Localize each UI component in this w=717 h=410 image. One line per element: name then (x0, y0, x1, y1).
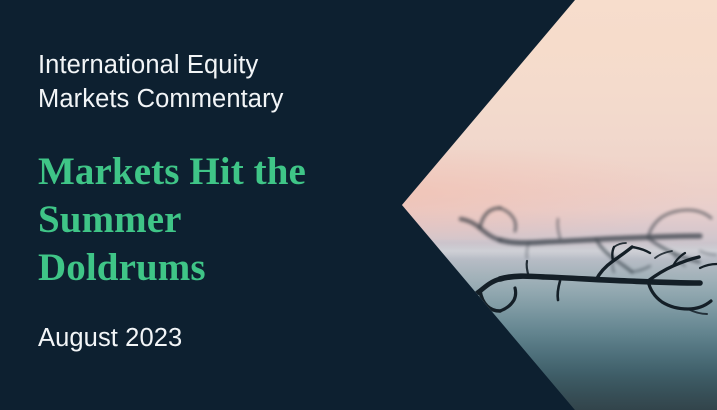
cover-text-block: International Equity Markets Commentary … (38, 0, 388, 410)
commentary-cover-card: International Equity Markets Commentary … (0, 0, 717, 410)
commentary-eyebrow: International Equity Markets Commentary (38, 48, 378, 116)
page-title: Markets Hit the Summer Doldrums (38, 148, 378, 292)
publication-date: August 2023 (38, 322, 182, 354)
